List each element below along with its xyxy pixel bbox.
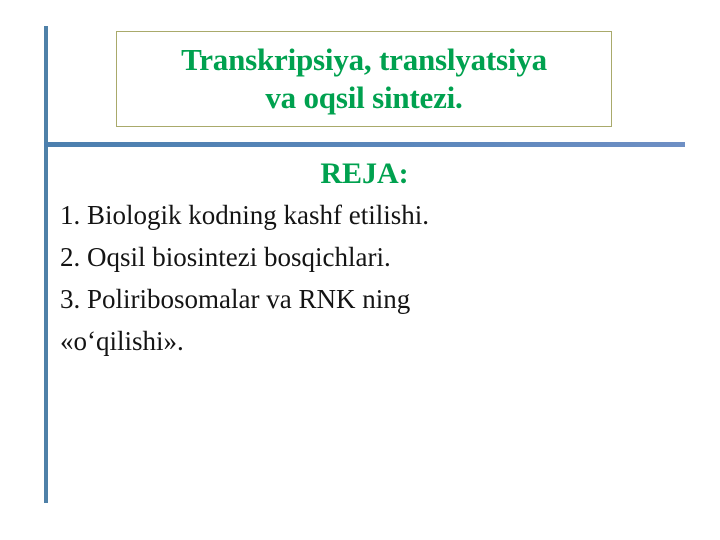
list-item: 1. Biologik kodning kashf etilishi. [60, 194, 660, 236]
list-item: 2. Oqsil biosintezi bosqichlari. [60, 236, 660, 278]
list-item: «oʻqilishi». [60, 320, 660, 362]
title-divider-rule [44, 142, 685, 147]
slide-title-line-1: Transkripsiya, translyatsiya [181, 41, 547, 79]
plan-list: 1. Biologik kodning kashf etilishi. 2. O… [60, 194, 660, 362]
section-heading-reja: REJA: [44, 157, 685, 191]
list-item: 3. Poliribosomalar va RNK ning [60, 278, 660, 320]
presentation-slide: Transkripsiya, translyatsiya va oqsil si… [0, 0, 720, 540]
slide-title-line-2: va oqsil sintezi. [265, 79, 462, 117]
left-vertical-rule [44, 26, 48, 503]
slide-title-box: Transkripsiya, translyatsiya va oqsil si… [116, 31, 612, 127]
